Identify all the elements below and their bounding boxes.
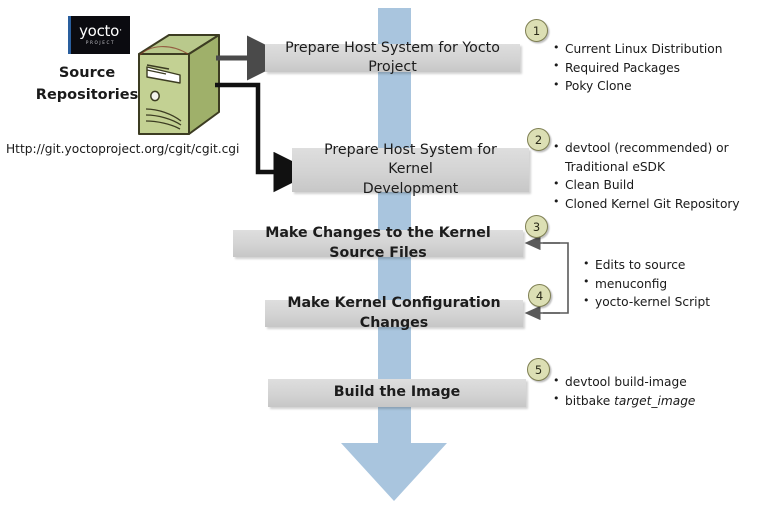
step-number-badge-1: 1 [525,19,548,42]
step-box-5-label: Build the Image [334,383,461,402]
bullet-item: bitbake target_image [553,392,695,411]
yocto-logo-subtext: PROJECT [86,41,115,45]
step-1-bullet-list: Current Linux Distribution Required Pack… [553,40,722,96]
step-number-1-text: 1 [533,24,540,38]
bullet-item: yocto-kernel Script [583,293,710,312]
step-5-bullet-list: devtool build-image bitbake target_image [553,373,695,410]
step-box-3-label: Make Changes to the Kernel Source Files [241,224,515,262]
bullet-item: Clean Build [553,176,740,195]
bullet-item: Current Linux Distribution [553,40,722,59]
bullet-item-continuation: Traditional eSDK [553,158,740,177]
step-3-4-bullet-list: Edits to source menuconfig yocto-kernel … [583,256,710,312]
step-box-prepare-host-kernel[interactable]: Prepare Host System for Kernel Developme… [292,148,529,192]
bullet-item: Cloned Kernel Git Repository [553,195,740,214]
bullet-item: Required Packages [553,59,722,78]
yocto-logo-dot: · [119,26,122,37]
diagram-canvas: yocto· PROJECT Source Repositories Http:… [0,0,769,517]
step-box-2-label: Prepare Host System for Kernel Developme… [300,141,521,199]
step-number-badge-3: 3 [525,215,548,238]
step-number-4-text: 4 [536,289,543,303]
step-number-3-text: 3 [533,220,540,234]
step-box-make-kernel-source-changes[interactable]: Make Changes to the Kernel Source Files [233,230,523,257]
yocto-logo-wordmark: yocto· [79,24,122,39]
source-repositories-label: Source Repositories [22,62,152,107]
bullet-item: Poky Clone [553,77,722,96]
step-number-badge-2: 2 [527,128,550,151]
yocto-logo-word-text: yocto [79,22,119,40]
bullet-item: menuconfig [583,275,710,294]
server-tower-icon [136,33,222,136]
step-2-bullet-list: devtool (recommended) or Traditional eSD… [553,139,740,213]
step-box-2-label-line1: Prepare Host System for Kernel [324,142,497,177]
step-number-5-text: 5 [535,363,542,377]
connector-server-to-step2 [215,85,278,172]
bullet-item-italic-token: target_image [614,394,695,408]
step-box-build-the-image[interactable]: Build the Image [268,379,526,407]
main-flow-arrow-head [341,443,447,501]
bullet-item: Edits to source [583,256,710,275]
source-label-line-1: Source [22,62,152,84]
bullet-item: devtool build-image [553,373,695,392]
step-number-badge-4: 4 [528,284,551,307]
bullet-item: devtool (recommended) or [553,139,740,158]
source-label-line-2: Repositories [22,84,152,106]
step-box-make-kernel-config-changes[interactable]: Make Kernel Configuration Changes [265,300,523,327]
source-repository-url: Http://git.yoctoproject.org/cgit/cgit.cg… [6,142,239,156]
step-box-1-label: Prepare Host System for Yocto Project [273,39,512,77]
step-box-4-label: Make Kernel Configuration Changes [273,294,515,332]
bullet-item-text: bitbake [565,394,614,408]
step-number-2-text: 2 [535,133,542,147]
step-box-prepare-host-yocto[interactable]: Prepare Host System for Yocto Project [265,44,520,72]
step-box-2-label-line2: Development [363,181,459,197]
step-number-badge-5: 5 [527,358,550,381]
yocto-project-logo: yocto· PROJECT [68,16,130,54]
